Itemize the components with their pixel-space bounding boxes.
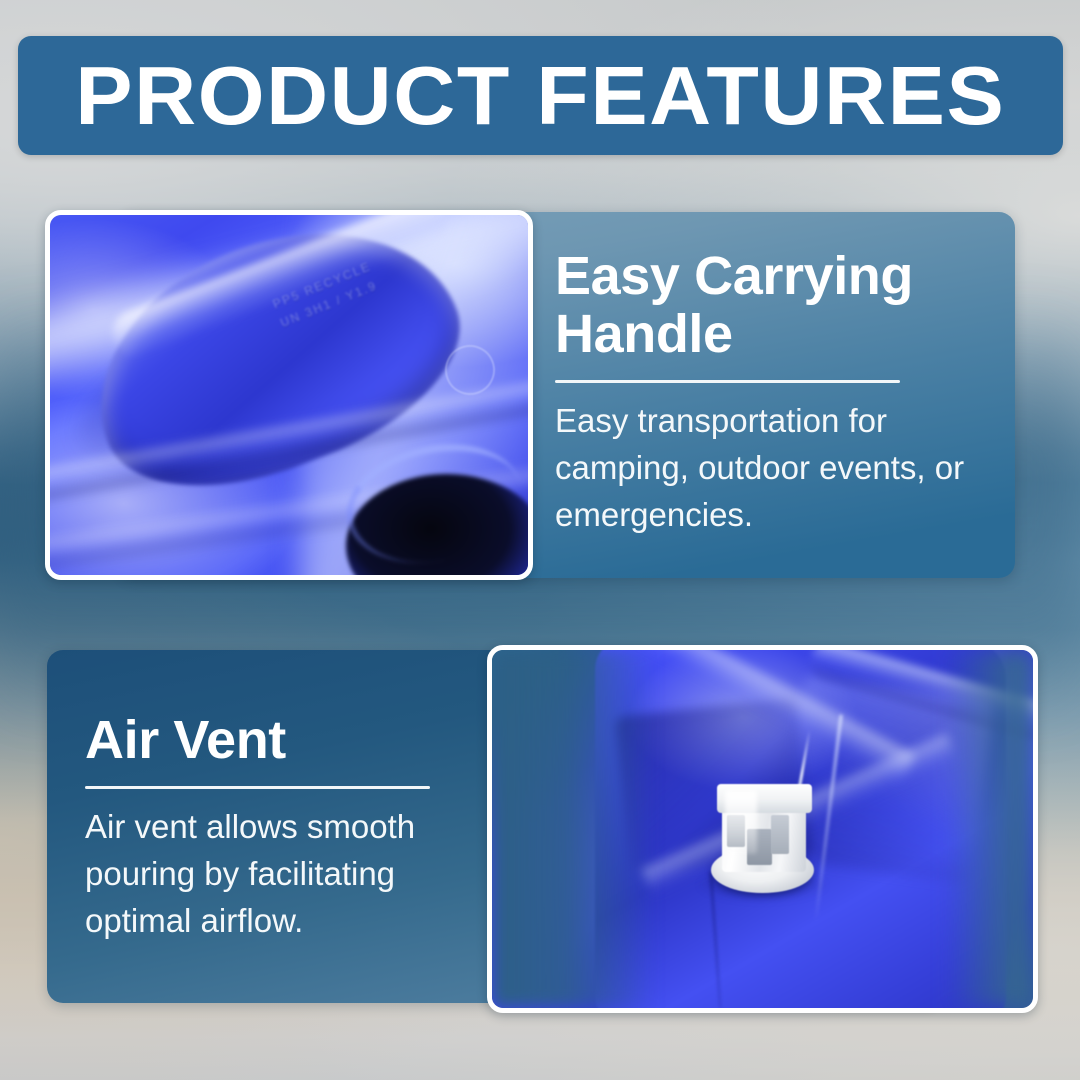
air-vent-photo-content (492, 650, 1033, 1008)
product-features-infographic: PRODUCT FEATURES PP5 RECYCLE UN 3H1 / Y1… (0, 0, 1080, 1080)
feature-text-easy-carrying-handle: Easy Carrying Handle Easy transportation… (555, 248, 985, 538)
handle-photo-content: PP5 RECYCLE UN 3H1 / Y1.9 (50, 215, 528, 575)
page-title: PRODUCT FEATURES (75, 54, 1005, 137)
header-banner: PRODUCT FEATURES (18, 36, 1063, 155)
air-vent-notch-right (771, 815, 789, 854)
feature-title-easy-carrying-handle: Easy Carrying Handle (555, 248, 985, 364)
feature-divider-easy-carrying-handle (555, 380, 900, 383)
feature-title-air-vent: Air Vent (85, 712, 485, 770)
feature-image-air-vent (487, 645, 1038, 1013)
photo-right-vignette (946, 650, 1033, 1008)
feature-text-air-vent: Air Vent Air vent allows smooth pouring … (85, 712, 485, 944)
air-vent-cap-highlight (725, 790, 757, 854)
feature-divider-air-vent (85, 786, 430, 789)
feature-image-easy-carrying-handle: PP5 RECYCLE UN 3H1 / Y1.9 (45, 210, 533, 580)
photo-left-vignette (492, 650, 654, 1008)
feature-description-air-vent: Air vent allows smooth pouring by facili… (85, 803, 485, 945)
feature-description-easy-carrying-handle: Easy transportation for camping, outdoor… (555, 397, 985, 539)
